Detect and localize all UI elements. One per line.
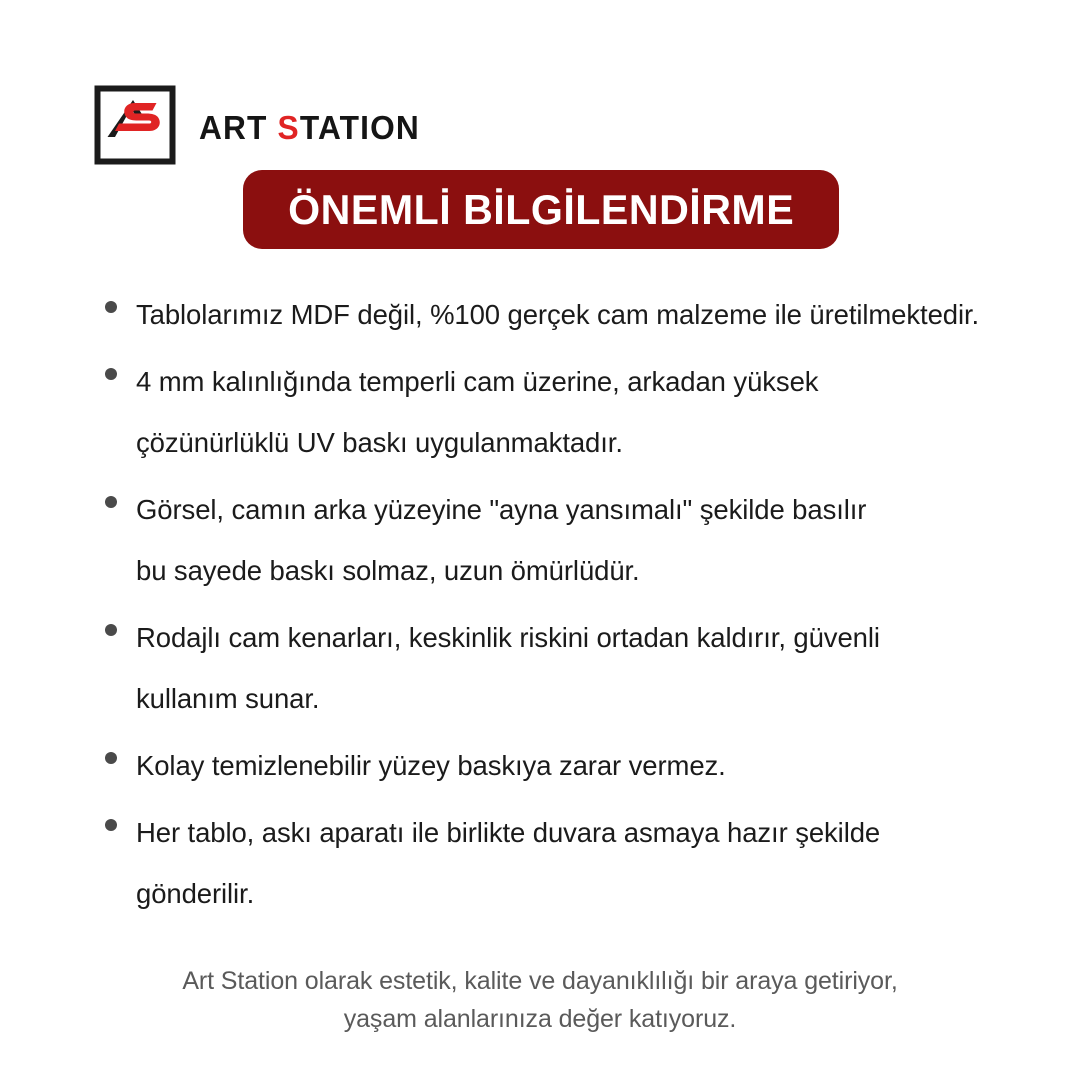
bullet-dot-icon <box>105 368 117 380</box>
bullet-dot-icon <box>105 752 117 764</box>
list-item-line: gönderilir. <box>136 863 1030 924</box>
footer-tagline: Art Station olarak estetik, kalite ve da… <box>0 962 1080 1038</box>
list-item: Tablolarımız MDF değil, %100 gerçek cam … <box>100 284 1030 345</box>
info-card: ART STATION ÖNEMLİ BİLGİLENDİRME Tablola… <box>0 0 1080 1080</box>
banner-title: ÖNEMLİ BİLGİLENDİRME <box>288 189 794 231</box>
list-item-line: bu sayede baskı solmaz, uzun ömürlüdür. <box>136 540 1030 601</box>
art-station-monogram-icon <box>93 84 177 166</box>
wordmark-suffix: TATION <box>300 109 420 146</box>
list-item-line: çözünürlüklü UV baskı uygulanmaktadır. <box>136 412 1030 473</box>
list-item-line: kullanım sunar. <box>136 668 1030 729</box>
wordmark-accent: S <box>278 109 300 146</box>
bullet-dot-icon <box>105 819 117 831</box>
list-item: 4 mm kalınlığında temperli cam üzerine, … <box>100 351 1030 473</box>
brand-wordmark: ART STATION <box>199 111 420 144</box>
list-item: Her tablo, askı aparatı ile birlikte duv… <box>100 802 1030 924</box>
bullet-dot-icon <box>105 624 117 636</box>
footer-line-1: Art Station olarak estetik, kalite ve da… <box>0 962 1080 1000</box>
list-item-line: 4 mm kalınlığında temperli cam üzerine, … <box>136 351 1030 412</box>
bullet-dot-icon <box>105 496 117 508</box>
footer-line-2: yaşam alanlarınıza değer katıyoruz. <box>0 1000 1080 1038</box>
list-item: Görsel, camın arka yüzeyine "ayna yansım… <box>100 479 1030 601</box>
banner: ÖNEMLİ BİLGİLENDİRME <box>243 170 839 249</box>
wordmark-prefix: ART <box>199 109 278 146</box>
list-item-line: Tablolarımız MDF değil, %100 gerçek cam … <box>136 284 1030 345</box>
list-item-line: Her tablo, askı aparatı ile birlikte duv… <box>136 802 1030 863</box>
list-item-line: Kolay temizlenebilir yüzey baskıya zarar… <box>136 735 1030 796</box>
list-item-line: Rodajlı cam kenarları, keskinlik riskini… <box>136 607 1030 668</box>
list-item-line: Görsel, camın arka yüzeyine "ayna yansım… <box>136 479 1030 540</box>
feature-list: Tablolarımız MDF değil, %100 gerçek cam … <box>100 284 1030 930</box>
list-item: Rodajlı cam kenarları, keskinlik riskini… <box>100 607 1030 729</box>
bullet-dot-icon <box>105 301 117 313</box>
brand-logo: ART STATION <box>93 82 429 168</box>
list-item: Kolay temizlenebilir yüzey baskıya zarar… <box>100 735 1030 796</box>
